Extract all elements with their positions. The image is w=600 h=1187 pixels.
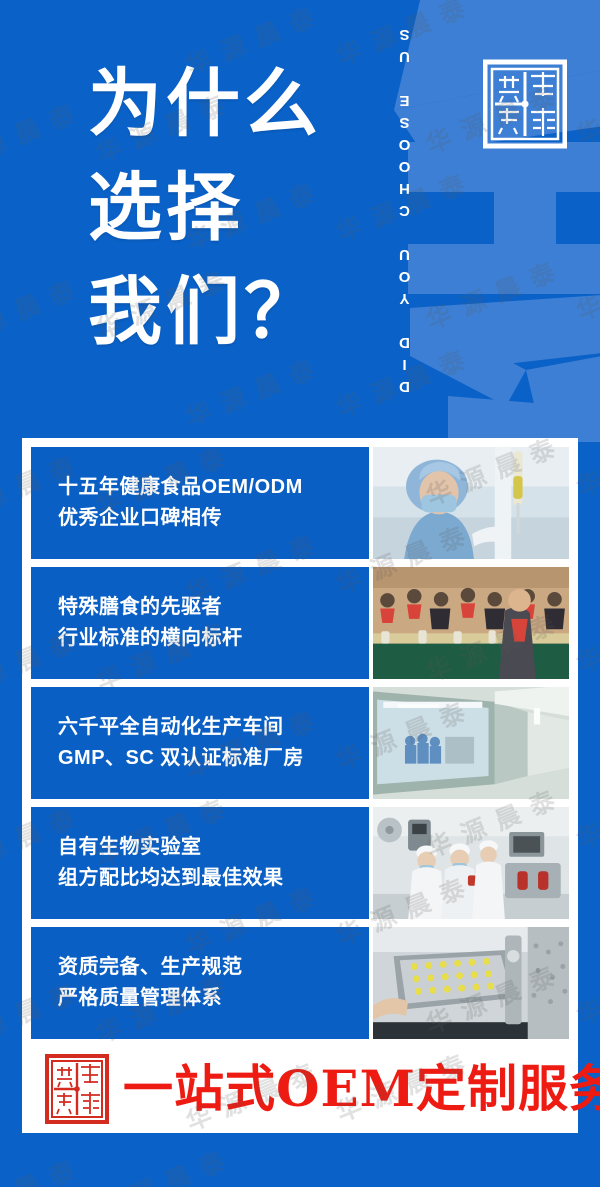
feature-card[interactable]: 资质完备、生产规范 严格质量管理体系 xyxy=(31,927,569,1039)
page-title: 为什么 选择 我们？ xyxy=(88,52,322,364)
feature-card-text: 六千平全自动化生产车间 GMP、SC 双认证标准厂房 xyxy=(31,687,369,799)
vertical-subtitle: DID YOU CHOOSE US xyxy=(396,8,422,408)
footer-slogan-bar: 一站式OEM定制服务 xyxy=(31,1051,569,1127)
footer-stamp-logo xyxy=(45,1053,109,1125)
feature-line-1: 特殊膳食的先驱者 xyxy=(58,592,369,623)
feature-image-lab-technician xyxy=(373,447,569,559)
feature-card-text: 特殊膳食的先驱者 行业标准的横向标杆 xyxy=(31,567,369,679)
features-panel: 十五年健康食品OEM/ODM 优秀企业口碑相传 xyxy=(22,438,578,1133)
feature-line-2: 优秀企业口碑相传 xyxy=(58,503,369,534)
feature-line-1: 六千平全自动化生产车间 xyxy=(58,712,369,743)
feature-line-2: 组方配比均达到最佳效果 xyxy=(58,863,369,894)
footer-slogan-text: 一站式OEM定制服务 xyxy=(123,1064,600,1114)
feature-card-list: 十五年健康食品OEM/ODM 优秀企业口碑相传 xyxy=(31,447,569,1039)
feature-line-2: 严格质量管理体系 xyxy=(58,983,369,1014)
feature-card-text: 十五年健康食品OEM/ODM 优秀企业口碑相传 xyxy=(31,447,369,559)
feature-image-blister-packing xyxy=(373,927,569,1039)
feature-card[interactable]: 自有生物实验室 组方配比均达到最佳效果 xyxy=(31,807,569,919)
feature-card-text: 资质完备、生产规范 严格质量管理体系 xyxy=(31,927,369,1039)
title-line-1: 为什么 xyxy=(88,52,322,156)
brand-stamp-logo xyxy=(483,58,567,150)
feature-line-2: GMP、SC 双认证标准厂房 xyxy=(58,743,369,774)
feature-line-1: 资质完备、生产规范 xyxy=(58,952,369,983)
feature-image-cleanroom xyxy=(373,687,569,799)
hero-section: 为什么 选择 我们？ DID YOU CHOOSE US xyxy=(0,0,600,438)
feature-image-conference xyxy=(373,567,569,679)
feature-card[interactable]: 特殊膳食的先驱者 行业标准的横向标杆 xyxy=(31,567,569,679)
feature-line-1: 十五年健康食品OEM/ODM xyxy=(58,472,369,503)
title-line-2: 选择 xyxy=(88,156,322,260)
feature-card[interactable]: 十五年健康食品OEM/ODM 优秀企业口碑相传 xyxy=(31,447,569,559)
feature-card-text: 自有生物实验室 组方配比均达到最佳效果 xyxy=(31,807,369,919)
feature-line-1: 自有生物实验室 xyxy=(58,832,369,863)
feature-line-2: 行业标准的横向标杆 xyxy=(58,623,369,654)
title-line-3: 我们？ xyxy=(88,260,322,364)
feature-image-packaging-line xyxy=(373,807,569,919)
poster-root: 为什么 选择 我们？ DID YOU CHOOSE US xyxy=(0,0,600,1187)
feature-card[interactable]: 六千平全自动化生产车间 GMP、SC 双认证标准厂房 xyxy=(31,687,569,799)
